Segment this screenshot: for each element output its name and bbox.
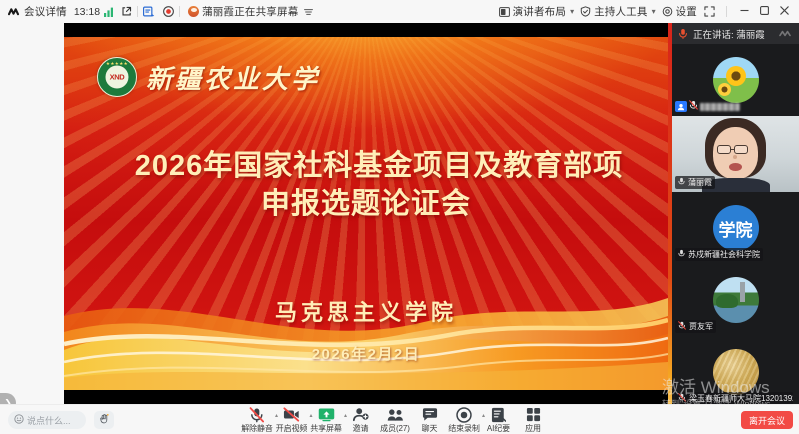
shared-screen-stage[interactable]: ★★★★★ XND 新疆农业大学 2026年国家社科基金项目及教育部项 申报选题… [64, 23, 668, 404]
speaker-layout-button[interactable]: 演讲者布局 ▾ [496, 3, 578, 21]
mic-on-icon [678, 177, 685, 188]
gear-icon [662, 6, 673, 17]
chevron-down-icon: ▾ [570, 7, 574, 16]
participant-tile-institute[interactable]: 学院 苏戍新疆社会科学院 [672, 192, 799, 264]
toolbar-divider-2 [179, 6, 180, 17]
university-name: 新疆农业大学 [146, 59, 320, 96]
share-screen-label: 共享屏幕 [310, 423, 342, 434]
participant-name-blurred [700, 103, 740, 111]
members-button[interactable]: 成员(27) [378, 407, 412, 434]
apps-label: 应用 [525, 423, 541, 434]
ai-notes-label: AI纪要 [487, 423, 510, 434]
chat-button[interactable]: 聊天 [413, 407, 447, 434]
more-lines-icon[interactable] [304, 8, 313, 16]
participant-tile-jiayoujun[interactable]: 贾友军 [672, 264, 799, 336]
sunflower-avatar [713, 57, 759, 103]
close-icon [779, 5, 790, 19]
text-avatar: 学院 [713, 205, 759, 251]
mic-on-icon [678, 249, 685, 260]
bottom-toolbar: 说点什么... 解除静音 ▴ 开启视频 ▴ [0, 404, 799, 434]
fullscreen-icon[interactable] [704, 6, 715, 17]
invite-label: 邀请 [353, 423, 369, 434]
mic-muted-icon [678, 321, 686, 332]
glasses-bridge [731, 149, 734, 150]
slide-title-line-1: 2026年国家社科基金项目及教育部项 [90, 147, 668, 185]
settings-label: 设置 [676, 4, 697, 19]
meeting-time: 13:18 [74, 6, 100, 18]
self-name-tag [675, 100, 740, 113]
shield-icon [580, 6, 591, 17]
emoji-smiley-icon[interactable] [14, 414, 24, 427]
university-seal-icon: ★★★★★ XND [97, 57, 137, 97]
tencent-wave-icon [779, 28, 793, 40]
meeting-details-label: 会议详情 [24, 4, 67, 19]
slide-organization: 马克思主义学院 [64, 295, 668, 327]
close-button[interactable] [774, 2, 794, 22]
minimize-button[interactable] [734, 2, 754, 22]
participant-tiles: 蒲丽霞 学院 苏戍新疆社会科学院 [672, 44, 799, 434]
chat-bubble-icon [422, 407, 438, 422]
screenshot-icon[interactable] [143, 6, 155, 17]
participant-tile-self[interactable] [672, 44, 799, 116]
participant-name: 苏戍新疆社会科学院 [688, 249, 760, 260]
meeting-window: 会议详情 13:18 蒲丽霞正在共享屏幕 演讲者布局 [0, 0, 799, 434]
reactions-button[interactable] [94, 411, 114, 429]
signal-bars-icon[interactable] [104, 7, 115, 17]
slide-subtitle: 马克思主义学院 2026年2月2日 [64, 295, 668, 364]
members-label: 成员(27) [380, 423, 410, 434]
meeting-controls: 解除静音 ▴ 开启视频 ▴ 共享屏幕 ▴ [240, 407, 550, 434]
seal-monogram: XND [105, 65, 130, 90]
tencent-meeting-logo-icon [8, 7, 21, 17]
share-screen-icon [318, 407, 335, 422]
left-side-pane: ❯ [0, 23, 64, 434]
participant-name-tag: 苏戍新疆社会科学院 [675, 248, 763, 261]
active-speaker-label: 正在讲话: 蒲丽霞 [693, 27, 765, 41]
slide-date: 2026年2月2日 [64, 343, 668, 364]
external-share-icon[interactable] [121, 6, 132, 17]
window-controls [734, 2, 794, 22]
layout-icon [499, 7, 510, 17]
toolbar-divider-3 [726, 6, 727, 17]
stop-recording-button[interactable]: 结束录制 ▴ [447, 407, 481, 434]
slide-title: 2026年国家社科基金项目及教育部项 申报选题论证会 [64, 147, 668, 224]
record-stop-icon [456, 407, 472, 422]
participant-name-tag: 蒲丽霞 [675, 176, 715, 189]
glasses-left-icon [717, 145, 731, 154]
video-nose [733, 155, 737, 159]
participant-name-tag: 贾友军 [675, 320, 716, 333]
university-logo-row: ★★★★★ XND 新疆农业大学 [97, 57, 320, 97]
minimize-icon [739, 5, 750, 19]
active-speaker-header: 正在讲话: 蒲丽霞 [672, 23, 799, 44]
glasses-right-icon [734, 145, 748, 154]
unmute-label: 解除静音 [241, 423, 273, 434]
speaker-layout-label: 演讲者布局 [513, 4, 567, 19]
apps-grid-icon [526, 407, 541, 422]
ai-notes-button[interactable]: AI纪要 [482, 407, 516, 434]
chat-placeholder: 说点什么... [27, 414, 71, 427]
canal-avatar [713, 277, 759, 323]
start-video-button[interactable]: 开启视频 ▴ [275, 407, 309, 434]
record-dot-icon[interactable] [163, 6, 174, 17]
participant-name: 贾友军 [689, 321, 713, 332]
camera-off-icon [283, 407, 300, 422]
mic-muted-icon [689, 100, 698, 113]
toolbar-divider-1 [137, 6, 138, 17]
top-toolbar: 会议详情 13:18 蒲丽霞正在共享屏幕 演讲者布局 [0, 0, 799, 23]
mic-muted-icon [678, 393, 686, 404]
host-tools-label: 主持人工具 [594, 4, 648, 19]
participant-name: 梁玉春新疆师大马院13201392063 [689, 393, 793, 404]
sharer-avatar [188, 6, 199, 17]
ai-notes-icon [491, 407, 506, 422]
participant-tile-liangyuchun[interactable]: 梁玉春新疆师大马院13201392063 [672, 336, 799, 408]
stop-recording-label: 结束录制 [448, 423, 480, 434]
meeting-details-button[interactable]: 会议详情 [5, 3, 70, 21]
unmute-button[interactable]: 解除静音 ▴ [240, 407, 274, 434]
sharing-notice-label: 蒲丽霞正在共享屏幕 [202, 4, 298, 19]
participant-name: 蒲丽霞 [688, 177, 712, 188]
raise-hand-icon [99, 413, 110, 427]
participant-panel: 正在讲话: 蒲丽霞 [668, 23, 799, 434]
maximize-button[interactable] [754, 2, 774, 22]
participant-tile-active-speaker[interactable]: 蒲丽霞 [672, 116, 799, 192]
start-video-label: 开启视频 [276, 423, 308, 434]
invite-person-icon [353, 407, 369, 422]
slide-title-line-2: 申报选题论证会 [64, 185, 668, 223]
presentation-slide: ★★★★★ XND 新疆农业大学 2026年国家社科基金项目及教育部项 申报选题… [64, 37, 668, 390]
self-person-icon [675, 101, 687, 112]
share-screen-button[interactable]: 共享屏幕 ▴ [309, 407, 343, 434]
chevron-down-icon: ▾ [652, 7, 656, 16]
sharing-notice[interactable]: 蒲丽霞正在共享屏幕 [185, 3, 316, 21]
chat-input[interactable]: 说点什么... [8, 411, 86, 429]
settings-button[interactable]: 设置 [659, 3, 700, 21]
maximize-icon [759, 5, 770, 19]
video-mouth [729, 163, 742, 171]
leave-meeting-button[interactable]: 离开会议 [741, 411, 793, 429]
host-tools-button[interactable]: 主持人工具 ▾ [577, 3, 659, 21]
apps-button[interactable]: 应用 [516, 407, 550, 434]
mic-muted-icon [249, 407, 265, 422]
chat-label: 聊天 [422, 423, 438, 434]
members-icon [387, 407, 404, 422]
gold-avatar [713, 349, 759, 395]
mic-active-icon [678, 28, 688, 39]
invite-button[interactable]: 邀请 [344, 407, 378, 434]
